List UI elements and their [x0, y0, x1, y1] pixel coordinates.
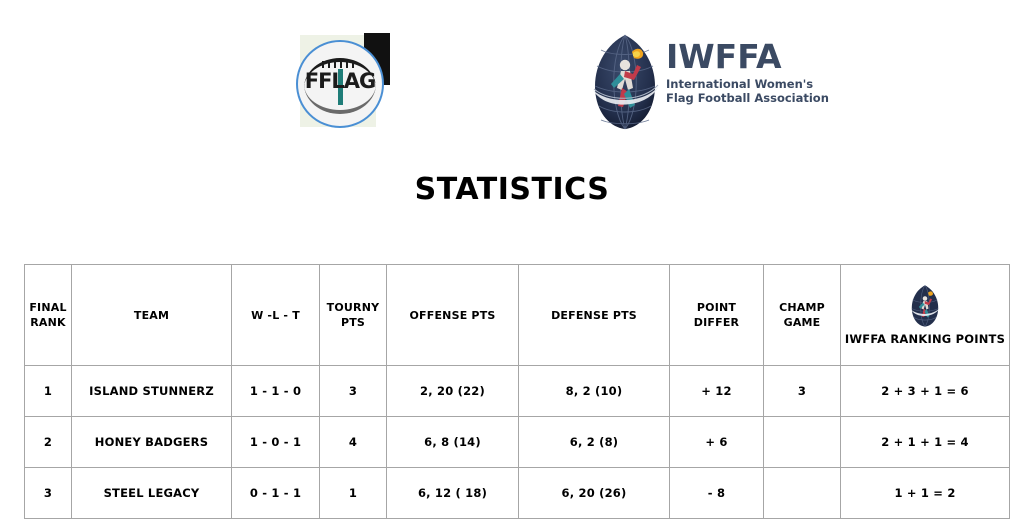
cell-tourny-pts: 4 — [320, 417, 387, 468]
cell-champ-game — [764, 417, 841, 468]
table-row: 1 ISLAND STUNNERZ 1 - 1 - 0 3 2, 20 (22)… — [25, 366, 1010, 417]
column-header-iwffa-ranking-points: IWFFA RANKING POINTS — [841, 265, 1010, 366]
cell-defense-pts: 6, 20 (26) — [519, 468, 670, 519]
cell-team: HONEY BADGERS — [72, 417, 232, 468]
cell-defense-pts: 8, 2 (10) — [519, 366, 670, 417]
column-header-final-rank: FINAL RANK — [25, 265, 72, 366]
column-header-tourny-pts: TOURNY PTS — [320, 265, 387, 366]
iwffa-tagline-line1: International Women's — [666, 77, 794, 91]
fflag-logo-circle: FFLAG — [296, 40, 384, 128]
statistics-table-container: FINAL RANK TEAM W -L - T TOURNY PTS OFFE… — [24, 264, 1009, 519]
fflag-logo-text: FFLAG — [298, 71, 382, 92]
cell-tourny-pts: 3 — [320, 366, 387, 417]
cell-team: ISLAND STUNNERZ — [72, 366, 232, 417]
table-row: 2 HONEY BADGERS 1 - 0 - 1 4 6, 8 (14) 6,… — [25, 417, 1010, 468]
iwffa-globe-torch-icon — [588, 32, 662, 132]
cell-point-differ: + 12 — [670, 366, 764, 417]
logo-band: FFLAG — [0, 0, 1024, 150]
iwffa-wordmark: IWFFA International Women's Flag Footbal… — [666, 40, 794, 105]
iwffa-acronym: IWFFA — [666, 40, 794, 74]
cell-final-rank: 2 — [25, 417, 72, 468]
cell-team: STEEL LEGACY — [72, 468, 232, 519]
cell-offense-pts: 6, 12 ( 18) — [387, 468, 519, 519]
cell-champ-game — [764, 468, 841, 519]
table-body: 1 ISLAND STUNNERZ 1 - 1 - 0 3 2, 20 (22)… — [25, 366, 1010, 519]
column-header-offense-pts: OFFENSE PTS — [387, 265, 519, 366]
column-header-wlt: W -L - T — [232, 265, 320, 366]
cell-wlt: 1 - 0 - 1 — [232, 417, 320, 468]
cell-wlt: 0 - 1 - 1 — [232, 468, 320, 519]
cell-point-differ: + 6 — [670, 417, 764, 468]
column-header-team: TEAM — [72, 265, 232, 366]
cell-champ-game: 3 — [764, 366, 841, 417]
column-header-champ-game: CHAMP GAME — [764, 265, 841, 366]
column-header-defense-pts: DEFENSE PTS — [519, 265, 670, 366]
cell-offense-pts: 6, 8 (14) — [387, 417, 519, 468]
column-header-point-differ: POINT DIFFER — [670, 265, 764, 366]
statistics-table: FINAL RANK TEAM W -L - T TOURNY PTS OFFE… — [24, 264, 1010, 519]
iwffa-tagline-line2: Flag Football Association — [666, 91, 794, 105]
fflag-logo: FFLAG — [292, 33, 388, 129]
cell-final-rank: 3 — [25, 468, 72, 519]
cell-ranking-points: 1 + 1 = 2 — [841, 468, 1010, 519]
cell-tourny-pts: 1 — [320, 468, 387, 519]
column-header-iwffa-ranking-points-label: IWFFA RANKING POINTS — [845, 332, 1005, 347]
cell-ranking-points: 2 + 1 + 1 = 4 — [841, 417, 1010, 468]
iwffa-globe-torch-icon-small — [908, 284, 942, 328]
table-header-row: FINAL RANK TEAM W -L - T TOURNY PTS OFFE… — [25, 265, 1010, 366]
cell-final-rank: 1 — [25, 366, 72, 417]
table-row: 3 STEEL LEGACY 0 - 1 - 1 1 6, 12 ( 18) 6… — [25, 468, 1010, 519]
cell-offense-pts: 2, 20 (22) — [387, 366, 519, 417]
iwffa-logo: IWFFA International Women's Flag Footbal… — [588, 30, 793, 135]
cell-ranking-points: 2 + 3 + 1 = 6 — [841, 366, 1010, 417]
page-title: STATISTICS — [0, 172, 1024, 207]
cell-defense-pts: 6, 2 (8) — [519, 417, 670, 468]
cell-point-differ: - 8 — [670, 468, 764, 519]
football-laces-icon — [322, 61, 356, 68]
cell-wlt: 1 - 1 - 0 — [232, 366, 320, 417]
